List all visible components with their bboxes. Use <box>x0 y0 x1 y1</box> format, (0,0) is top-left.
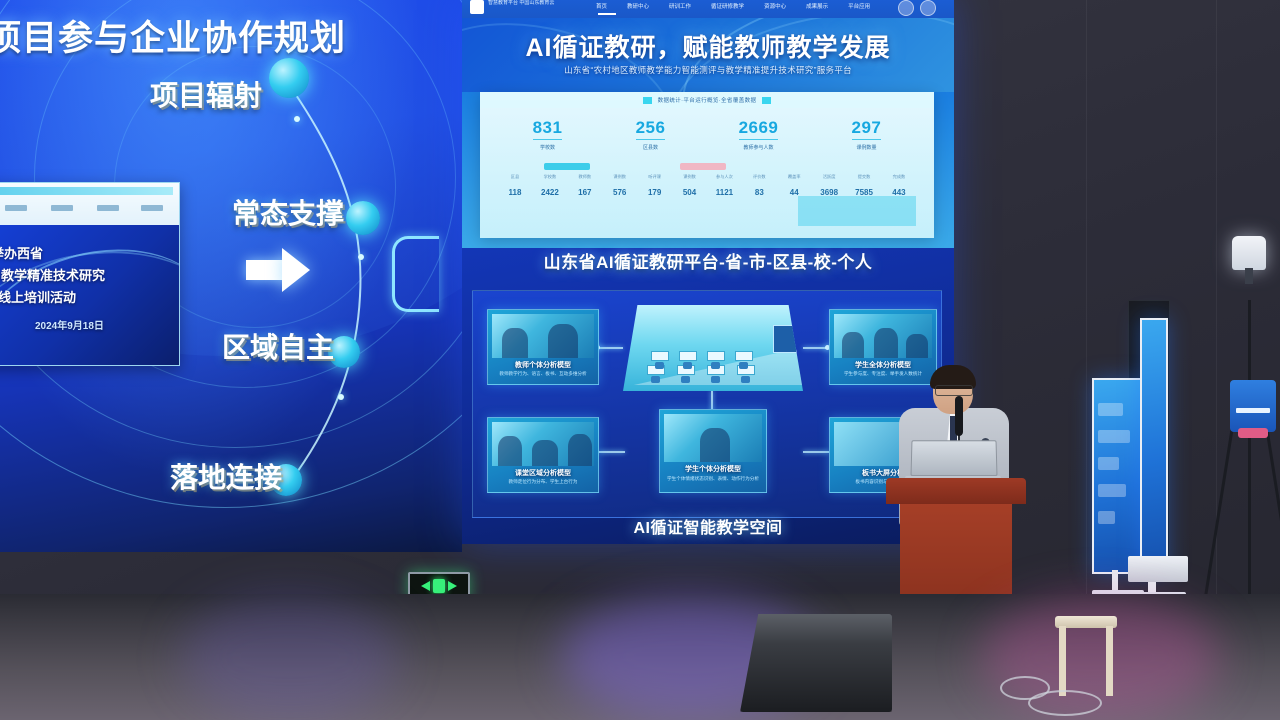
glasses-icon <box>935 385 973 396</box>
nav-item-home[interactable]: 首页 <box>596 2 607 10</box>
node-label-radiation: 项目辐射 <box>150 74 262 114</box>
user-icon[interactable] <box>920 0 936 16</box>
tile-subtitle: 学生个体情绪状态识别、表情、动作行为分析 <box>660 476 766 482</box>
tripod-accessory <box>1238 428 1268 438</box>
stat-row: 831 学校数 256 区县数 2669 教师参与人数 297 课例数量 <box>480 108 934 155</box>
left-led-slide: 项目参与企业协作规划 项目辐射 常态支撑 区域自主 落地连接 中心小学成功举办西… <box>0 0 462 552</box>
stat-card: 297 课例数量 <box>852 118 882 151</box>
stat-value: 256 <box>636 118 666 140</box>
tile-area-model: 课堂区域分析模型 教师走位行为分布、学生上台行为 <box>487 417 599 493</box>
stat-value: 831 <box>533 118 563 140</box>
panel-header: 数据统计·平台运行概览·全省覆盖数据 <box>480 92 934 108</box>
brace-bracket <box>392 236 439 312</box>
right-led-slide: 智慧教育平台 中国山东教育云 首页 教研中心 研训工作 循证研修教学 资源中心 … <box>462 0 954 544</box>
screenshot-root: 项目参与企业协作规划 项目辐射 常态支撑 区域自主 落地连接 中心小学成功举办西… <box>0 0 1280 720</box>
table-cell: 教师数167 <box>572 174 598 200</box>
table-tab-secondary[interactable] <box>680 163 726 170</box>
tripod-stand <box>1222 300 1280 600</box>
teaching-space-diagram: 教师个体分析模型 教师教学行为、语言、板书、互动多维分析 学生全体分析模型 学生… <box>472 290 942 518</box>
data-table: 区县118 学校数2422 教师数167 课例数576 听评课179 课例数50… <box>492 163 922 200</box>
stat-card: 831 学校数 <box>533 118 563 151</box>
nav-item-research[interactable]: 教研中心 <box>627 2 649 10</box>
arrow-right-icon <box>448 581 457 591</box>
table-cell: 区县118 <box>502 174 528 200</box>
stat-card: 2669 教师参与人数 <box>739 118 779 151</box>
left-slide-title: 项目参与企业协作规划 <box>0 10 346 61</box>
nav-item-evidence[interactable]: 循证研修教学 <box>711 2 744 10</box>
curve-node-dot <box>358 254 364 260</box>
embedded-webpage-card: 中心小学成功举办西省 学能力智能评测与教学精准技术研究 模式暨平台使用线上培训活… <box>0 182 180 366</box>
laptop-screen <box>910 440 997 476</box>
curve-node-dot <box>338 394 344 400</box>
table-tab-primary[interactable] <box>544 163 590 170</box>
stage-light-fixture <box>1232 236 1266 270</box>
floor-wedge-speaker <box>740 614 892 712</box>
embedded-nav <box>0 183 179 226</box>
table-highlight-band <box>798 196 916 226</box>
node-label-autonomy: 区域自主 <box>222 326 334 366</box>
stats-panel: 数据统计·平台运行概览·全省覆盖数据 831 学校数 256 区县数 2669 … <box>480 92 934 238</box>
microphone-icon <box>955 396 963 436</box>
node-label-landing: 落地连接 <box>170 456 282 496</box>
tile-photo <box>834 314 932 358</box>
tile-title: 课堂区域分析模型 <box>488 468 598 478</box>
table-cell: 学校数2422 <box>537 174 563 200</box>
laptop-on-table <box>1128 556 1188 582</box>
node-dot <box>346 201 380 235</box>
stat-value: 297 <box>852 118 882 140</box>
stat-label: 课例数量 <box>852 144 882 151</box>
node-dot <box>269 58 309 98</box>
embedded-date: 2024年9月18日 <box>35 317 104 332</box>
table-cell: 课例数576 <box>607 174 633 200</box>
classroom-board-icon <box>773 325 797 353</box>
nav-item-resources[interactable]: 资源中心 <box>764 2 786 10</box>
embedded-line-1: 中心小学成功举办西省 <box>0 243 43 262</box>
stat-card: 256 区县数 <box>636 118 666 151</box>
stat-label: 学校数 <box>533 144 563 151</box>
classroom-3d-render <box>623 305 803 391</box>
flow-arrow-icon <box>246 248 310 292</box>
arrow-left-icon <box>421 581 430 591</box>
stat-label: 教师参与人数 <box>739 144 779 151</box>
tile-student-individual-model: 学生个体分析模型 学生个体情绪状态识别、表情、动作行为分析 <box>659 409 767 493</box>
table-cell: 课例数504 <box>677 174 703 200</box>
search-icon[interactable] <box>898 0 914 16</box>
table-cell: 评价数83 <box>746 174 772 200</box>
tile-subtitle: 教师走位行为分布、学生上台行为 <box>488 479 598 485</box>
diagram-caption: AI循证智能教学空间 <box>462 514 954 538</box>
tile-title: 教师个体分析模型 <box>488 360 598 370</box>
tile-photo <box>492 422 594 466</box>
node-label-support: 常态支撑 <box>232 192 344 232</box>
site-navbar: 智慧教育平台 中国山东教育云 首页 教研中心 研训工作 循证研修教学 资源中心 … <box>462 0 954 18</box>
monitor-blue-secondary <box>1092 378 1144 574</box>
tile-teacher-model: 教师个体分析模型 教师教学行为、语言、板书、互动多维分析 <box>487 309 599 385</box>
table-tab-row <box>492 163 922 170</box>
tile-subtitle: 教师教学行为、语言、板书、互动多维分析 <box>488 371 598 377</box>
nav-item-results[interactable]: 成果展示 <box>806 2 828 10</box>
wooden-stool <box>1055 616 1117 696</box>
tile-photo <box>492 314 594 358</box>
tile-title: 学生个体分析模型 <box>660 464 766 474</box>
hero-title: AI循证教研，赋能教师教学发展 <box>462 28 954 64</box>
panel-header-text: 数据统计·平台运行概览·全省覆盖数据 <box>658 96 757 104</box>
floor-cable <box>1028 690 1102 716</box>
nav-active-underline <box>598 13 616 15</box>
website-screenshot: 智慧教育平台 中国山东教育云 首页 教研中心 研训工作 循证研修教学 资源中心 … <box>462 0 954 248</box>
platform-caption: 山东省AI循证教研平台-省-市-区县-校-个人 <box>462 248 954 273</box>
table-cell: 参与人次1121 <box>711 174 737 200</box>
site-logo-icon <box>470 0 484 14</box>
embedded-line-3: 模式暨平台使用线上培训活动 <box>0 287 76 306</box>
tile-photo <box>664 414 762 462</box>
site-logo-text: 智慧教育平台 中国山东教育云 <box>488 0 554 7</box>
podium-top <box>886 478 1026 504</box>
nav-item-training[interactable]: 研训工作 <box>669 2 691 10</box>
site-hero-banner: AI循证教研，赋能教师教学发展 山东省“农村地区教师教学能力智能测评与教学精准提… <box>462 18 954 92</box>
site-nav-items: 首页 教研中心 研训工作 循证研修教学 资源中心 成果展示 平台应用 <box>596 2 870 10</box>
running-man-icon <box>433 579 445 593</box>
embedded-poster: 中心小学成功举办西省 学能力智能评测与教学精准技术研究 模式暨平台使用线上培训活… <box>0 225 179 365</box>
table-cell: 听评课179 <box>642 174 668 200</box>
curve-node-dot <box>294 116 300 122</box>
nav-item-apps[interactable]: 平台应用 <box>848 2 870 10</box>
monitor-blue-primary <box>1140 318 1168 574</box>
hero-subtitle: 山东省“农村地区教师教学能力智能测评与教学精准提升技术研究”服务平台 <box>462 64 954 76</box>
tripod-banner <box>1230 380 1276 432</box>
embedded-line-2: 学能力智能评测与教学精准技术研究 <box>0 265 105 284</box>
stat-value: 2669 <box>739 118 779 140</box>
stat-label: 区县数 <box>636 144 666 151</box>
